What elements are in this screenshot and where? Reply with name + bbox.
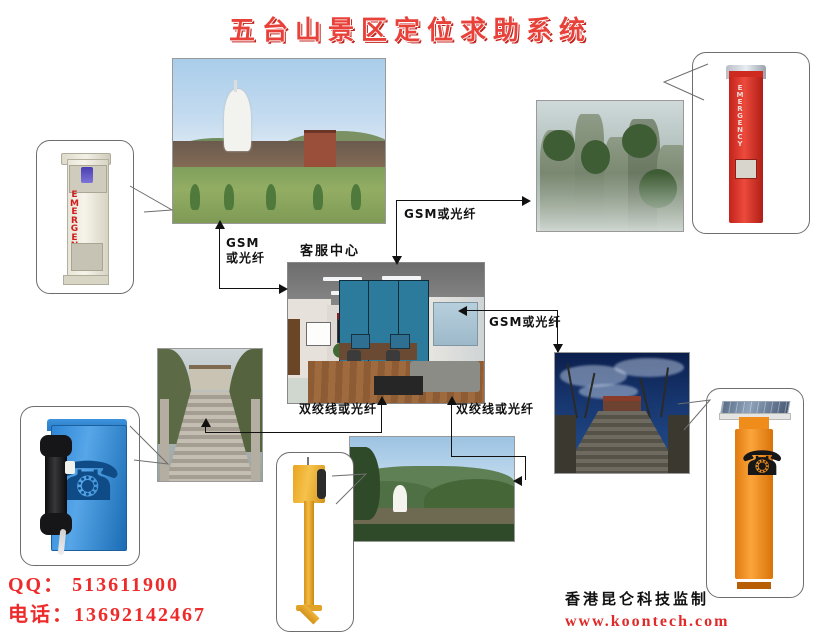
arrow-to-center-left xyxy=(279,284,288,294)
device-solar-orange: ☎ xyxy=(725,399,783,589)
photo-valley-pagoda xyxy=(349,436,515,542)
link-pagoda-horizontal xyxy=(219,288,281,289)
arrow-to-center-bottom-left xyxy=(377,396,387,405)
link-cliffs-horizontal xyxy=(396,200,524,201)
link-label-cliffs: GSM或光纤 xyxy=(404,205,476,222)
photo-stone-stairs xyxy=(157,348,263,482)
footer-qq: QQ： 513611900 xyxy=(8,568,179,597)
callout-tail-red xyxy=(660,60,710,112)
link-valley-horizontal xyxy=(451,456,525,457)
page-title: 五台山景区定位求助系统 xyxy=(0,10,821,47)
callout-tail-orange xyxy=(676,398,716,442)
callout-tail-cream xyxy=(128,182,178,224)
arrow-to-valley xyxy=(513,476,522,486)
callout-phone-blue: ☎ xyxy=(20,406,140,566)
device-phone-blue: ☎ xyxy=(35,419,127,551)
arrow-to-center-top xyxy=(392,256,402,265)
diagram-canvas: 五台山景区定位求助系统 xyxy=(0,0,821,640)
device-tower-red: EMERGENCY xyxy=(723,63,769,223)
photo-pagoda-scenic xyxy=(172,58,386,224)
arrow-to-stairs xyxy=(201,418,211,427)
photo-karst-cliffs xyxy=(536,100,684,232)
link-stairs-vertical xyxy=(381,404,382,432)
photo-control-room xyxy=(287,262,485,404)
arrow-to-cliffs xyxy=(522,196,531,206)
callout-solar-orange: ☎ xyxy=(706,388,804,598)
photo-night-temple xyxy=(554,352,690,474)
center-label: 客服中心 xyxy=(300,240,360,259)
link-night-horizontal xyxy=(466,310,558,311)
arrow-to-pagoda xyxy=(215,220,225,229)
arrow-to-center-right xyxy=(458,306,467,316)
device-tower-cream: EMERGENCY xyxy=(59,151,111,285)
link-stairs-horizontal xyxy=(205,432,382,433)
phone-handset-icon: ☎ xyxy=(741,447,783,481)
callout-tower-cream: EMERGENCY xyxy=(36,140,134,294)
footer-website[interactable]: www.koontech.com xyxy=(565,613,729,631)
link-cliffs-vertical xyxy=(396,200,397,262)
footer-tel: 电话：13692142467 xyxy=(8,598,206,627)
link-pagoda-vertical xyxy=(219,228,220,288)
link-label-pagoda: GSM 或光纤 xyxy=(226,236,265,266)
link-label-stairs: 双绞线或光纤 xyxy=(299,400,377,417)
link-valley-vertical2 xyxy=(525,456,526,480)
link-valley-vertical xyxy=(451,404,452,456)
callout-tail-yellow xyxy=(330,470,370,516)
callout-tail-blue xyxy=(128,420,172,480)
footer-company: 香港昆仑科技监制 xyxy=(565,588,709,609)
link-label-valley: 双绞线或光纤 xyxy=(456,400,534,417)
emergency-text-red: EMERGENCY xyxy=(735,85,745,148)
link-label-night: GSM或光纤 xyxy=(489,313,561,330)
arrow-to-night xyxy=(553,344,563,353)
